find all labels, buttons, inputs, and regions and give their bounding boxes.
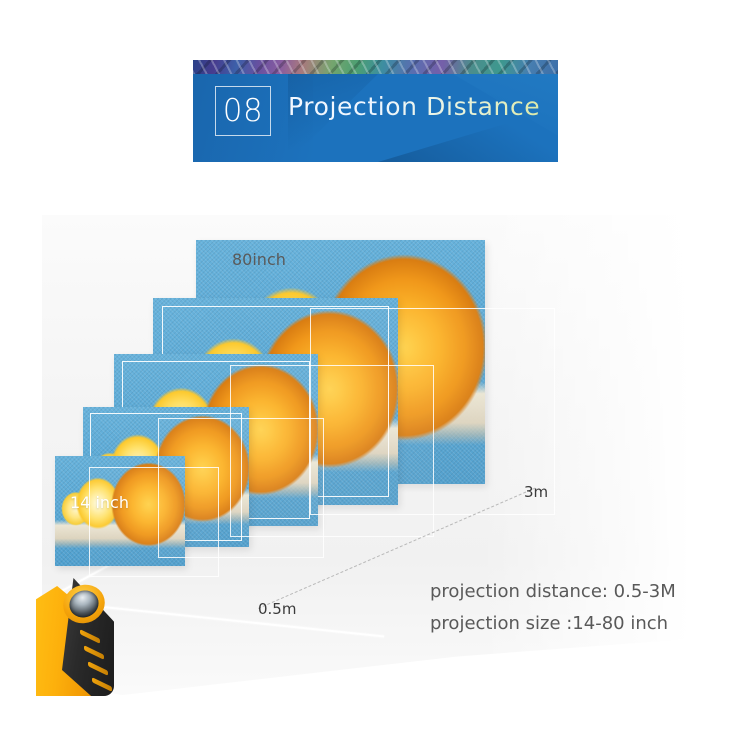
- section-number-box: 08: [215, 86, 271, 136]
- distance-label-far: 3m: [524, 483, 548, 501]
- section-title: Projection Distance: [288, 92, 540, 121]
- projection-screen-14inch: [55, 456, 185, 566]
- caption-projection-size: projection size :14-80 inch: [430, 608, 676, 640]
- section-header-banner: 08 Projection Distance: [193, 60, 558, 162]
- section-number: 08: [223, 96, 263, 127]
- distance-label-near: 0.5m: [258, 600, 296, 618]
- screen-photo: [55, 456, 185, 566]
- projector-device: [36, 578, 142, 696]
- caption-projection-distance: projection distance: 0.5-3M: [430, 576, 676, 608]
- abstract-color-strip: [193, 60, 558, 74]
- specs-caption: projection distance: 0.5-3M projection s…: [430, 576, 676, 640]
